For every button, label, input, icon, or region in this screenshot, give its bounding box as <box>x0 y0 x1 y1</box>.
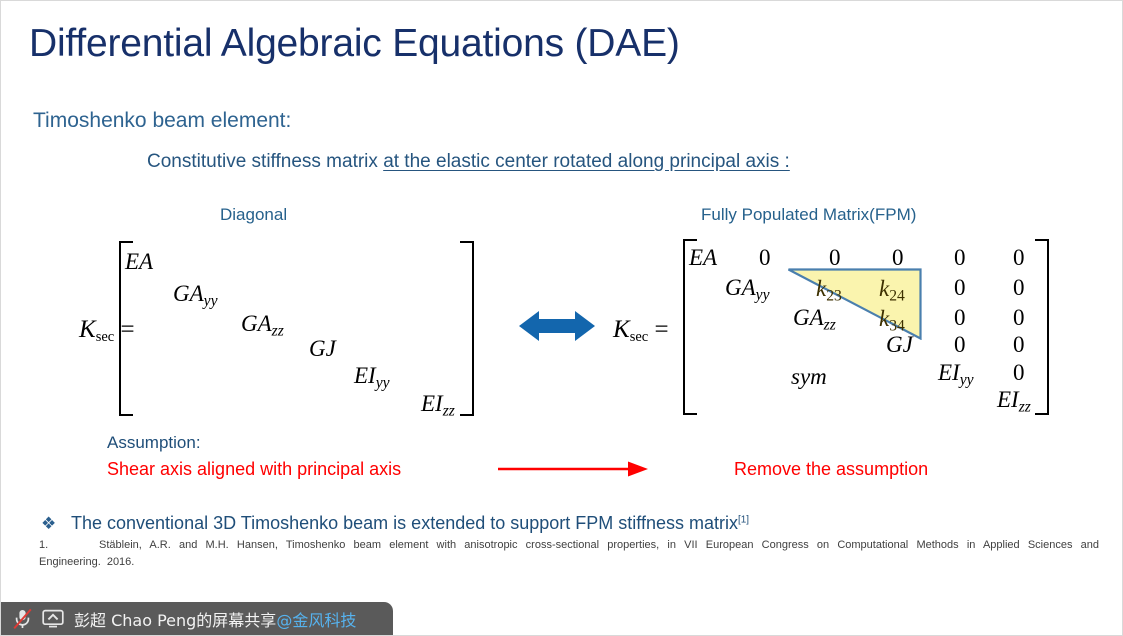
equals-sign-fpm: = <box>654 316 668 343</box>
k-subscript: sec <box>96 329 115 345</box>
constitutive-line: Constitutive stiffness matrix at the ela… <box>147 151 790 173</box>
matrix-cell-d2: GAyy <box>173 281 218 310</box>
matrix-sym-label: sym <box>791 364 827 390</box>
k-subscript-fpm: sec <box>630 329 649 345</box>
diagonal-matrix: EA GAyy GAzz GJ EIyy EIzz <box>119 241 474 416</box>
screen-share-icon[interactable] <box>42 609 64 628</box>
matrix-cell-d3: GAzz <box>241 311 284 340</box>
column-head-diagonal: Diagonal <box>220 205 287 225</box>
k-symbol-fpm: K <box>613 316 630 343</box>
matrix-cell-r1c5: 0 <box>954 245 966 271</box>
fpm-matrix: EA 0 0 0 0 0 GAyy k23 k24 0 0 GAzz k34 0… <box>683 239 1049 415</box>
bracket-right <box>460 241 474 416</box>
matrix-cell-r6c6: EIzz <box>997 387 1031 416</box>
constitutive-prefix: Constitutive stiffness matrix <box>147 151 383 172</box>
matrix-cell-d1: EA <box>125 249 153 275</box>
microphone-muted-icon[interactable] <box>13 608 32 630</box>
reference-number: 1. <box>39 537 99 554</box>
share-status-text: 彭超 Chao Peng的屏幕共享 <box>74 607 276 631</box>
remove-assumption-text: Remove the assumption <box>734 459 928 480</box>
presentation-slide: Differential Algebraic Equations (DAE) T… <box>0 0 1123 636</box>
matrix-cell-r4c5: 0 <box>954 332 966 358</box>
matrix-cell-d6: EIzz <box>421 391 455 420</box>
reference-note: 1.Stäblein, A.R. and M.H. Hansen, Timosh… <box>39 537 1099 571</box>
k-symbol: K <box>79 316 96 343</box>
matrix-cell-r2c4-k24: k24 <box>879 276 905 305</box>
matrix-cell-r1c3: 0 <box>829 245 841 271</box>
matrix-cell-r4c6: 0 <box>1013 332 1025 358</box>
matrix-cell-r2c2: GAyy <box>725 275 770 304</box>
bullet-row: ❖The conventional 3D Timoshenko beam is … <box>41 513 749 534</box>
matrix-cell-r1c6: 0 <box>1013 245 1025 271</box>
zoom-share-taskbar[interactable]: 彭超 Chao Peng的屏幕共享 @金风科技 <box>1 602 393 635</box>
bullet-superscript: [1] <box>738 515 749 526</box>
matrix-cell-r1c1: EA <box>689 245 717 271</box>
assumption-label: Assumption: <box>107 433 201 453</box>
matrix-cell-r1c2: 0 <box>759 245 771 271</box>
matrix-cell-r5c6: 0 <box>1013 360 1025 386</box>
matrix-cell-r3c3: GAzz <box>793 305 836 334</box>
column-head-fpm: Fully Populated Matrix(FPM) <box>701 205 916 225</box>
matrix-cell-d4: GJ <box>309 336 336 362</box>
double-arrow-icon <box>519 308 595 349</box>
constitutive-underlined: at the elastic center rotated along prin… <box>383 151 790 172</box>
bullet-text: The conventional 3D Timoshenko beam is e… <box>71 513 738 533</box>
page-title: Differential Algebraic Equations (DAE) <box>29 23 680 66</box>
matrix-cell-r2c6: 0 <box>1013 275 1025 301</box>
matrix-cell-r2c3-k23: k23 <box>816 276 842 305</box>
red-arrow-icon <box>498 459 648 484</box>
fpm-equation-label: Ksec = <box>613 316 669 346</box>
matrix-cell-r4c4: GJ <box>886 332 913 358</box>
section-subtitle: Timoshenko beam element: <box>33 109 291 133</box>
bracket-right-fpm <box>1035 239 1049 415</box>
matrix-cell-r3c4-k34: k34 <box>879 306 905 335</box>
matrix-cell-d5: EIyy <box>354 363 390 392</box>
matrix-cell-r3c5: 0 <box>954 305 966 331</box>
diamond-bullet-icon: ❖ <box>41 514 71 534</box>
reference-text: Stäblein, A.R. and M.H. Hansen, Timoshen… <box>39 539 1099 568</box>
matrix-cell-r2c5: 0 <box>954 275 966 301</box>
matrix-cell-r5c5: EIyy <box>938 360 974 389</box>
assumption-text: Shear axis aligned with principal axis <box>107 459 401 480</box>
matrix-cell-r3c6: 0 <box>1013 305 1025 331</box>
matrix-cell-r1c4: 0 <box>892 245 904 271</box>
share-handle: @金风科技 <box>276 607 356 631</box>
